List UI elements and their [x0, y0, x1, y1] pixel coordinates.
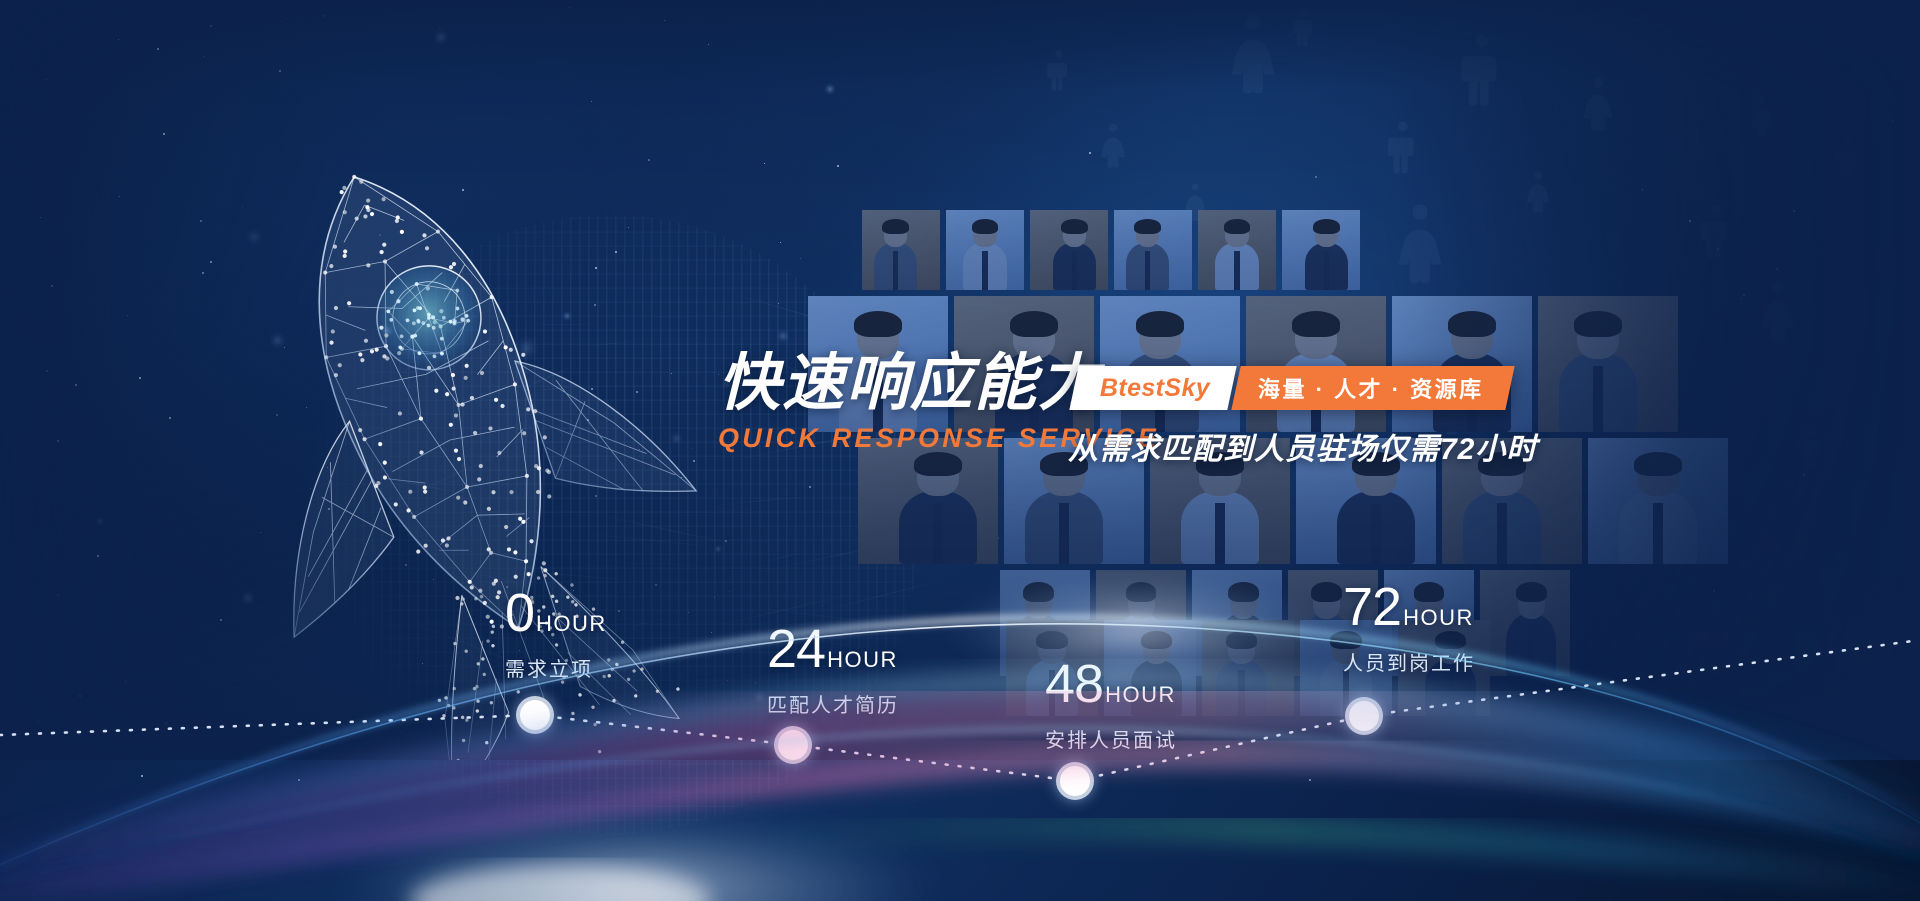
banner-stage: 快速响应能力 QUICK RESPONSE SERVICE BtestSky 海…	[0, 0, 1920, 901]
brand-badge: BtestSky 海量 · 人才 · 资源库	[1074, 366, 1510, 410]
aurora-svg	[0, 571, 1920, 901]
value-proposition-text: 从需求匹配到人员驻场仅需72小时	[1068, 424, 1537, 468]
brand-tagline-text: 海量 · 人才 · 资源库	[1258, 372, 1484, 404]
aurora-light-arcs	[0, 571, 1920, 901]
brand-badge-name: BtestSky	[1069, 366, 1237, 410]
brand-name-text: BtestSky	[1100, 374, 1210, 403]
brand-badge-tagline: 海量 · 人才 · 资源库	[1232, 366, 1515, 410]
